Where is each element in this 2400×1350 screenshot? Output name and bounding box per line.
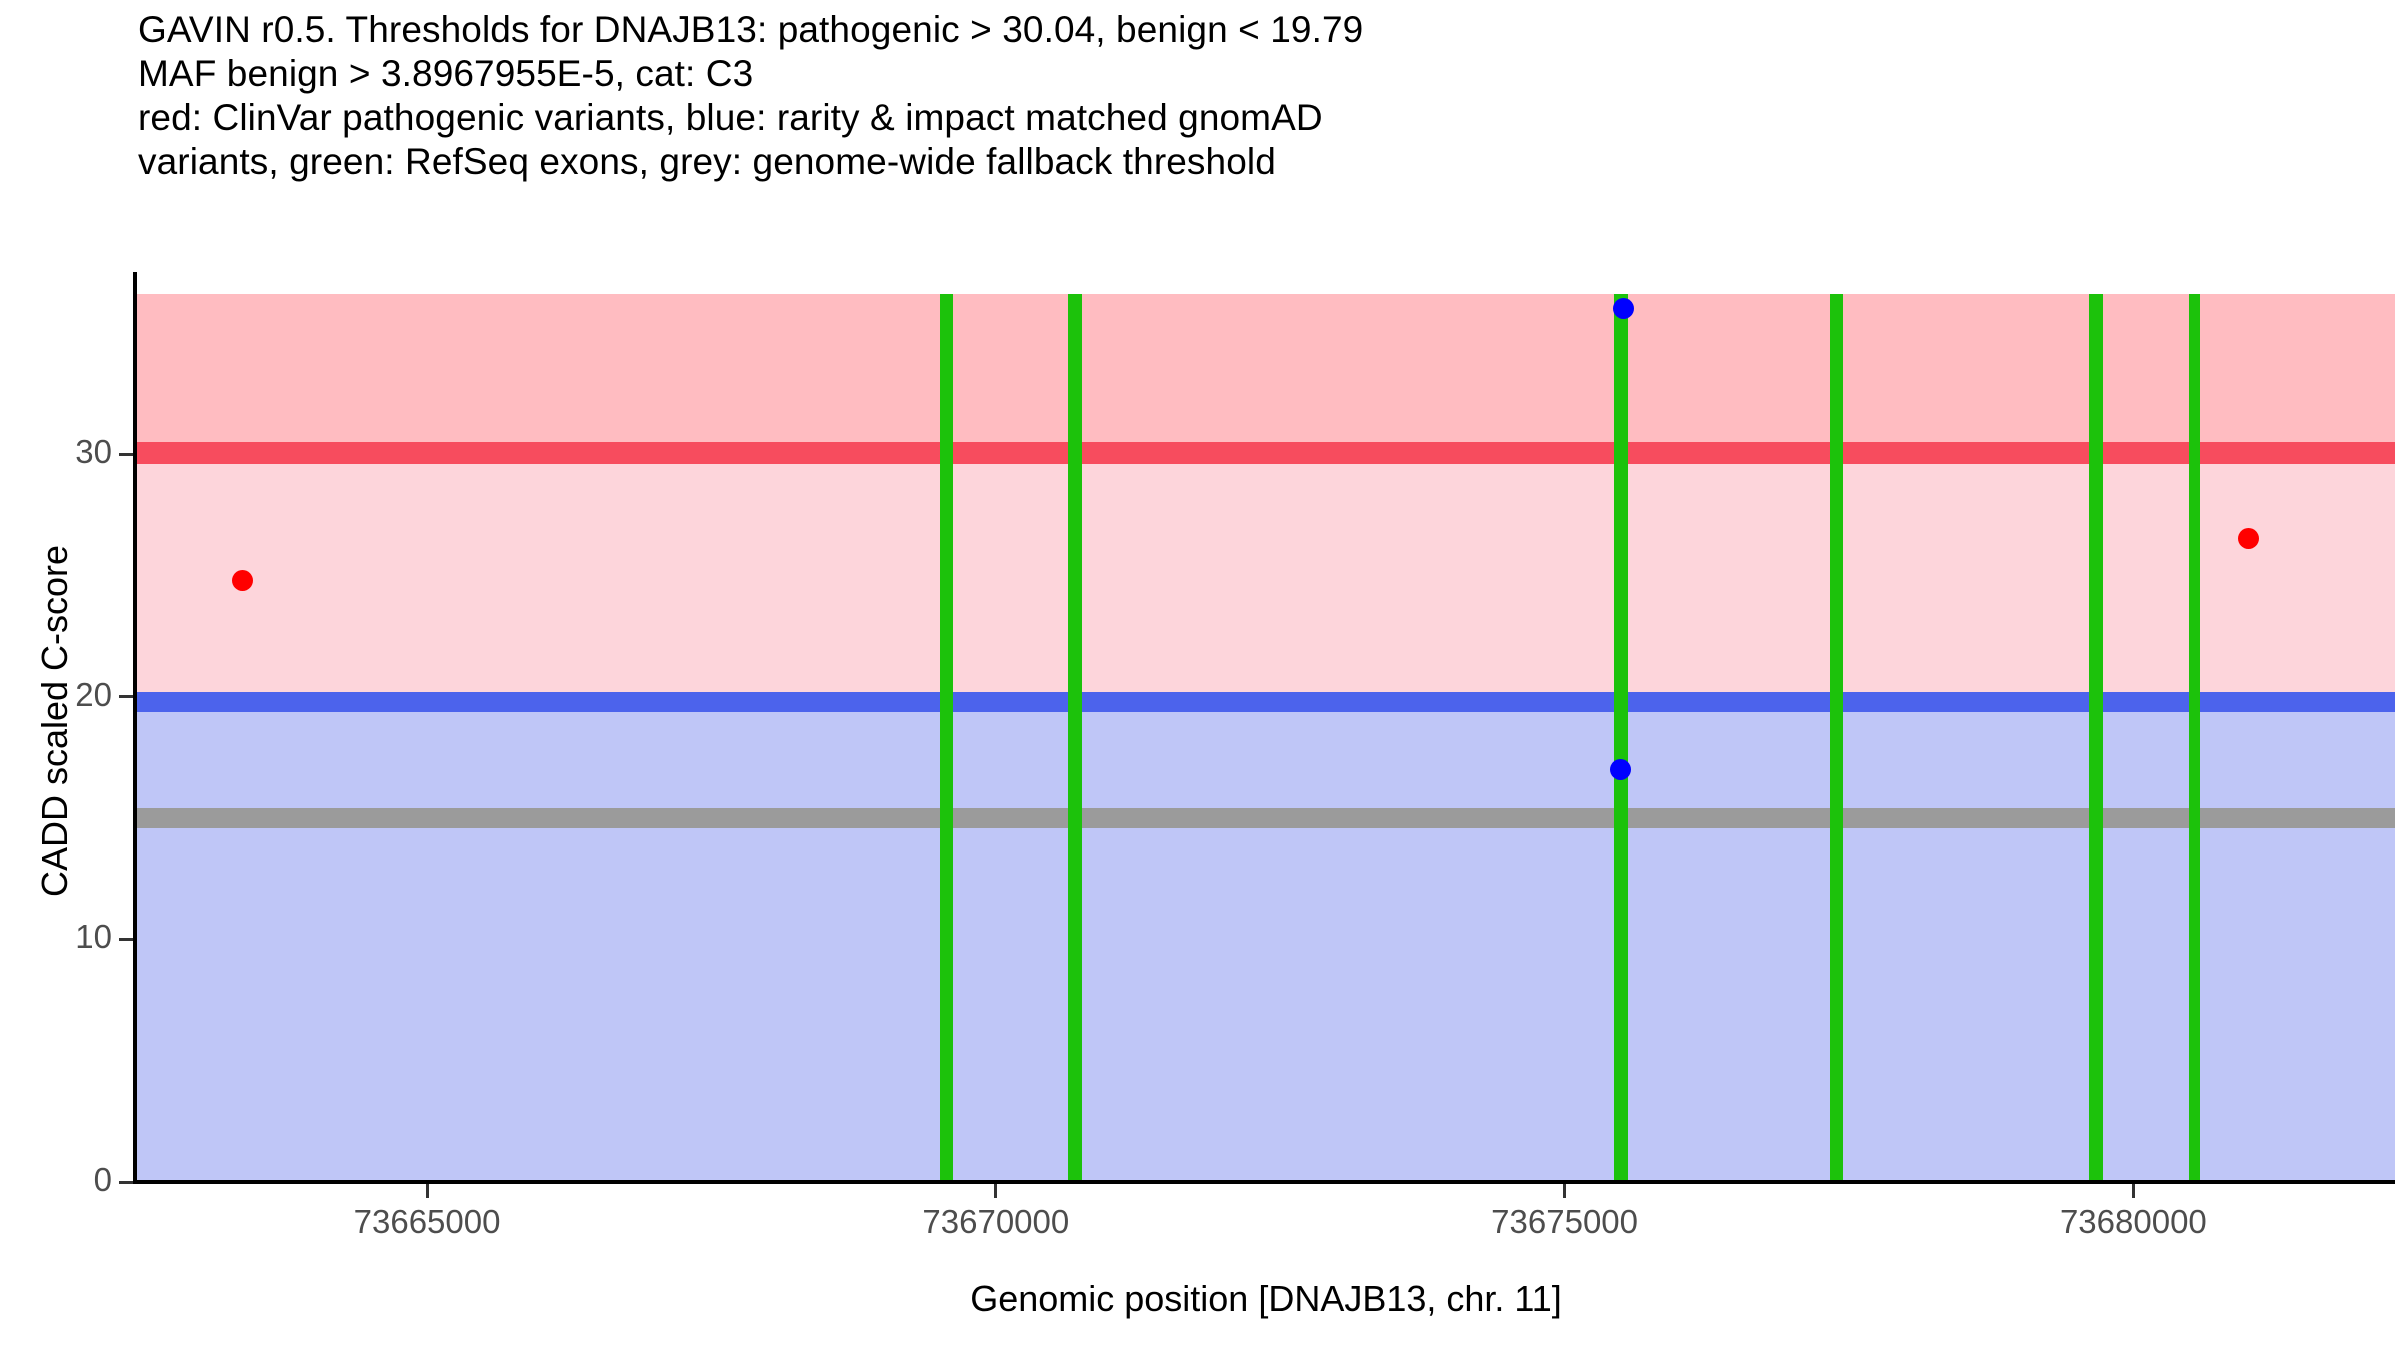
title-line-legend-1: red: ClinVar pathogenic variants, blue: … (138, 96, 2378, 140)
gnomad-variant-point[interactable] (1610, 759, 1631, 780)
x-tick-mark (426, 1184, 429, 1198)
gnomad-variant-point[interactable] (1613, 298, 1634, 319)
band-benign (137, 702, 2395, 1182)
y-tick-mark (119, 453, 133, 456)
threshold-line-pathogenic (137, 442, 2395, 464)
title-line-legend-2: variants, green: RefSeq exons, grey: gen… (138, 140, 2378, 184)
y-tick-mark (119, 1181, 133, 1184)
threshold-line-benign (137, 692, 2395, 712)
x-axis-line (133, 1180, 2395, 1184)
exon-bar (1614, 294, 1629, 1182)
exon-bar (2089, 294, 2103, 1182)
chart-title-block: GAVIN r0.5. Thresholds for DNAJB13: path… (138, 8, 2378, 184)
exon-bar (1830, 294, 1844, 1182)
clinvar-variant-point[interactable] (232, 570, 253, 591)
y-tick-mark (119, 695, 133, 698)
x-tick-label: 73680000 (2060, 1203, 2207, 1241)
plot-area (137, 272, 2395, 1182)
threshold-line-fallback (137, 808, 2395, 828)
x-tick-mark (994, 1184, 997, 1198)
exon-bar (940, 294, 953, 1182)
y-tick-mark (119, 938, 133, 941)
y-axis-title: CADD scaled C-score (34, 371, 76, 1071)
x-tick-label: 73670000 (922, 1203, 1069, 1241)
x-tick-mark (2132, 1184, 2135, 1198)
x-axis-title: Genomic position [DNAJB13, chr. 11] (137, 1278, 2395, 1320)
title-line-maf: MAF benign > 3.8967955E-5, cat: C3 (138, 52, 2378, 96)
x-tick-label: 73665000 (354, 1203, 501, 1241)
y-axis-line (133, 272, 137, 1184)
band-vus (137, 453, 2395, 702)
title-line-thresholds: GAVIN r0.5. Thresholds for DNAJB13: path… (138, 8, 2378, 52)
x-tick-label: 73675000 (1491, 1203, 1638, 1241)
y-tick-label: 0 (40, 1161, 112, 1199)
x-tick-mark (1563, 1184, 1566, 1198)
exon-bar (2189, 294, 2200, 1182)
band-pathogenic (137, 294, 2395, 453)
exon-bar (1068, 294, 1083, 1182)
